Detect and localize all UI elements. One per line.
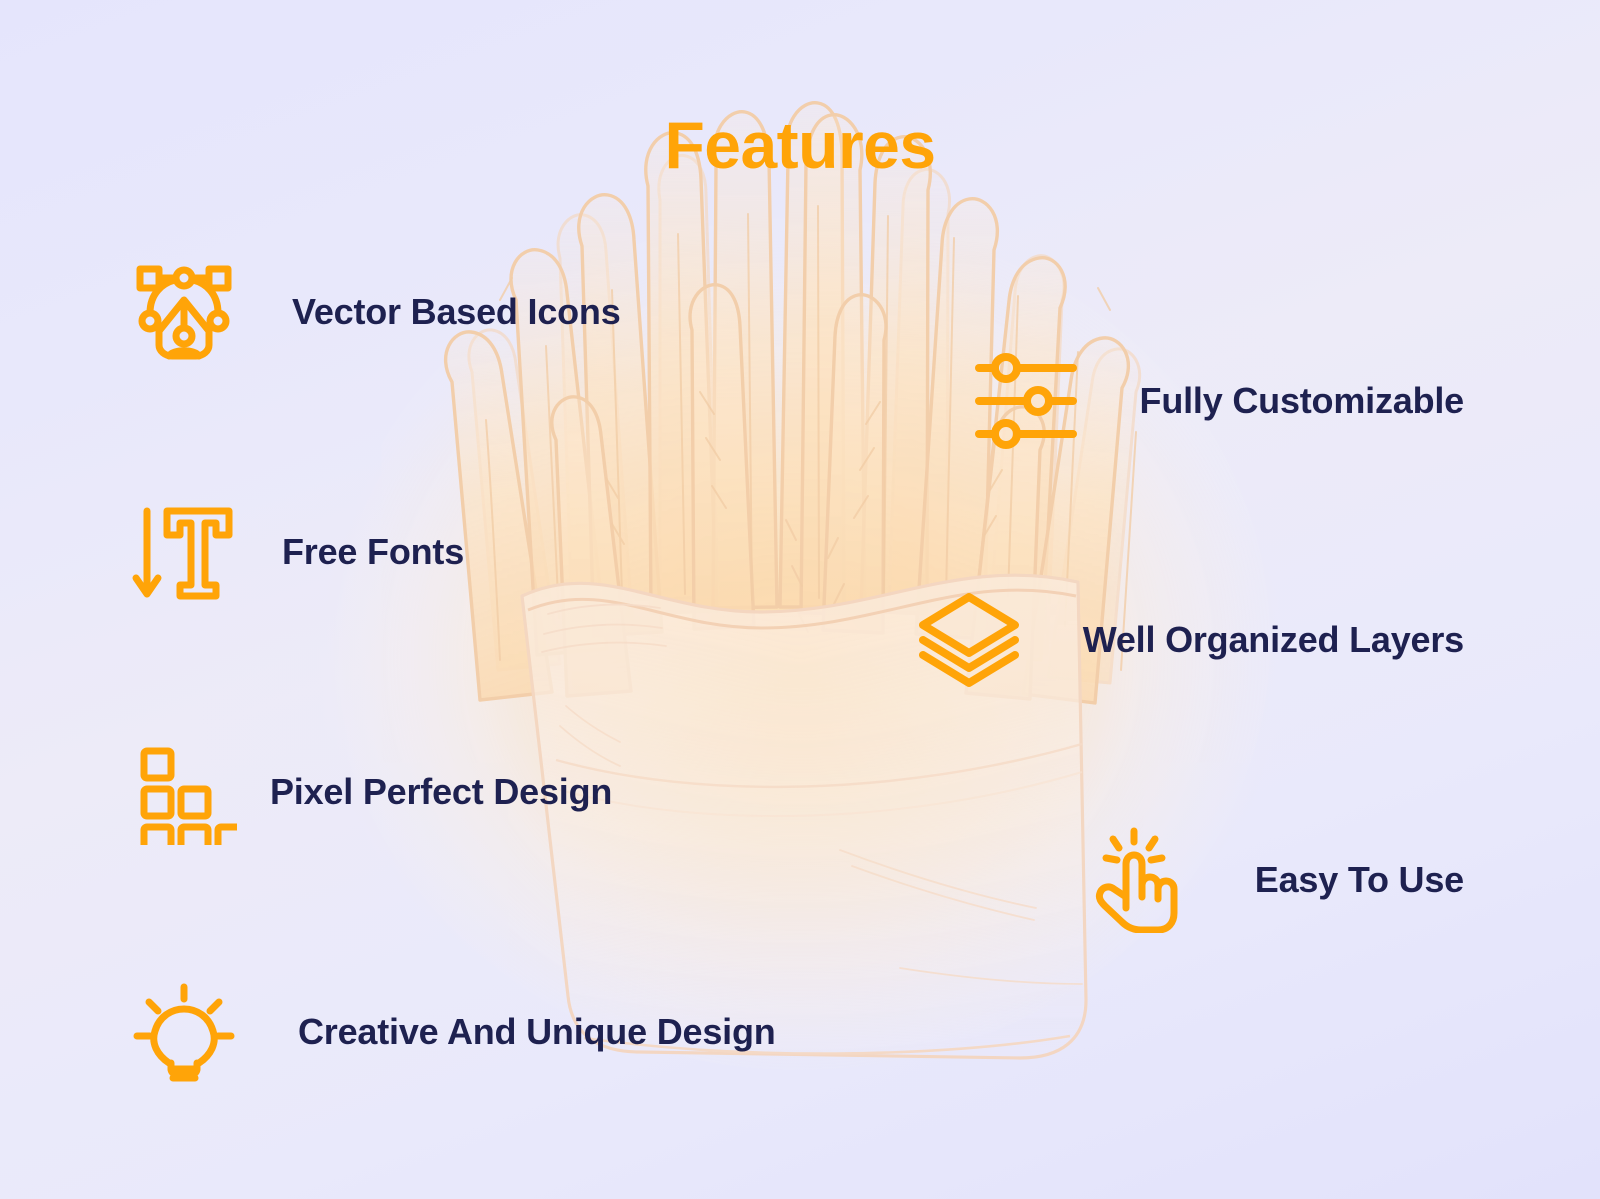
feature-item-well-organized-layers[interactable]: Well Organized Layers <box>913 580 1464 700</box>
tap-hand-icon <box>1085 824 1197 936</box>
feature-label: Well Organized Layers <box>1083 619 1464 661</box>
feature-label: Easy To Use <box>1255 859 1464 901</box>
feature-label: Fully Customizable <box>1140 380 1464 422</box>
feature-label: Pixel Perfect Design <box>270 771 612 813</box>
feature-label: Vector Based Icons <box>292 291 621 333</box>
typography-icon <box>128 496 240 608</box>
pixel-grid-icon <box>128 736 240 848</box>
features-slide: Features Vector Based Icons <box>0 0 1600 1199</box>
feature-item-fully-customizable[interactable]: Fully Customizable <box>970 341 1464 461</box>
feature-item-pixel-perfect-design[interactable]: Pixel Perfect Design <box>128 732 612 852</box>
sliders-icon <box>970 345 1082 457</box>
pen-tool-icon <box>128 256 240 368</box>
feature-item-easy-to-use[interactable]: Easy To Use <box>1085 820 1464 940</box>
feature-item-creative-and-unique-design[interactable]: Creative And Unique Design <box>128 972 776 1092</box>
layers-icon <box>913 584 1025 696</box>
lightbulb-icon <box>128 976 240 1088</box>
page-title: Features <box>0 112 1600 178</box>
feature-label: Creative And Unique Design <box>298 1011 776 1053</box>
feature-item-vector-based-icons[interactable]: Vector Based Icons <box>128 252 621 372</box>
feature-label: Free Fonts <box>282 531 464 573</box>
feature-item-free-fonts[interactable]: Free Fonts <box>128 492 464 612</box>
